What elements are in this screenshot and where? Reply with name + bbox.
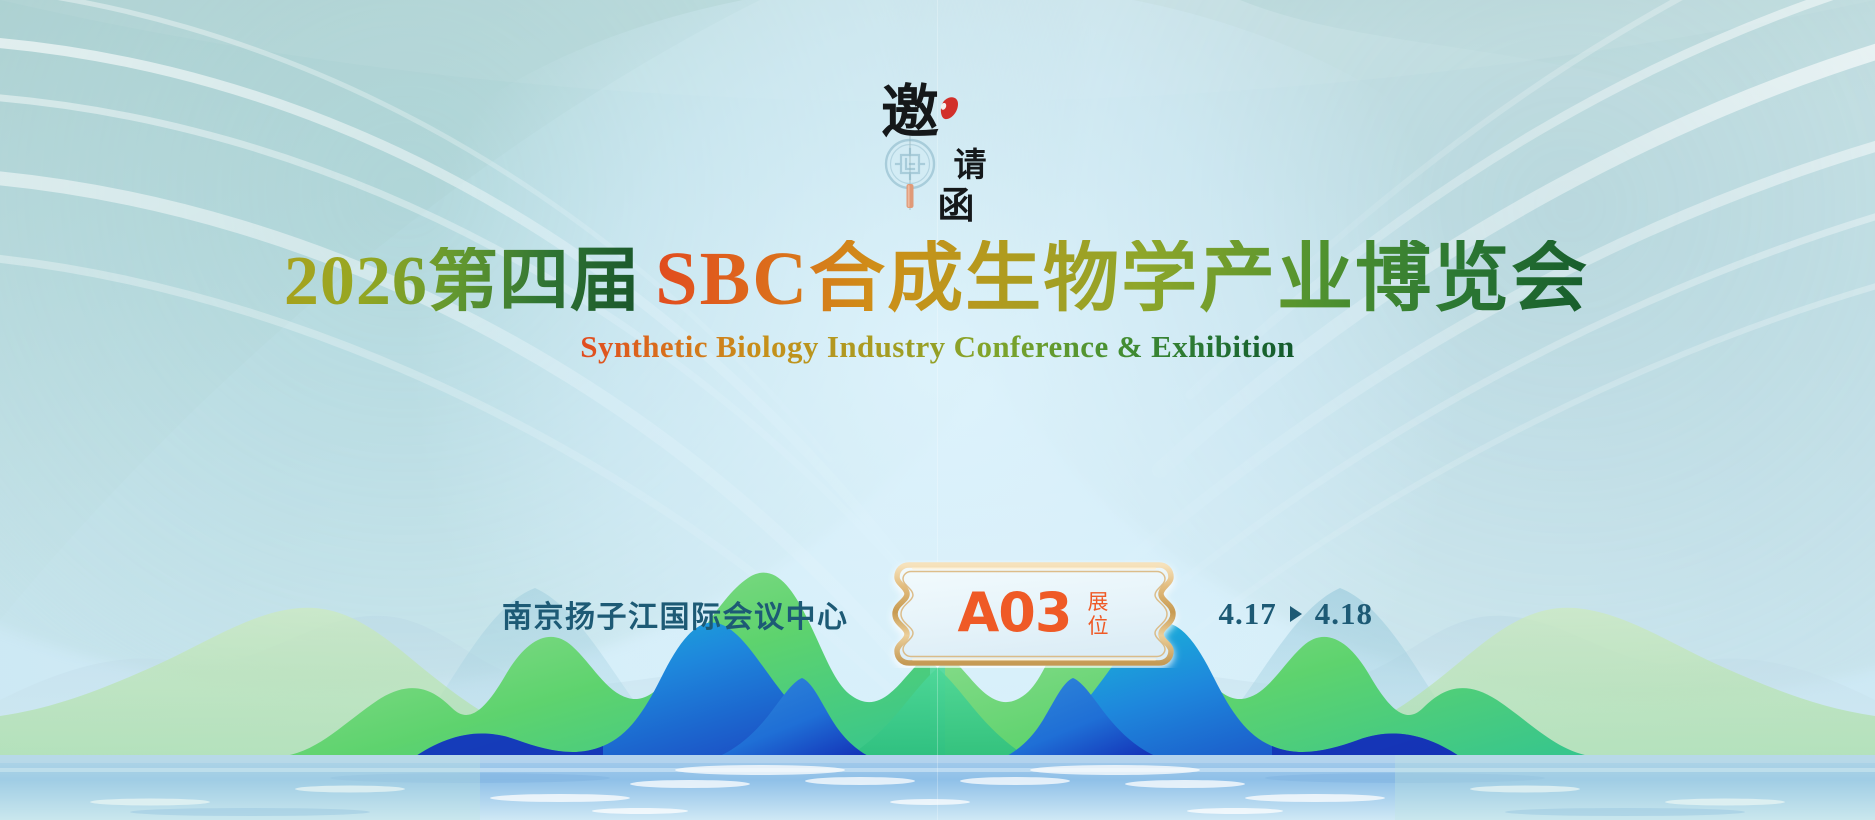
info-row: 南京扬子江国际会议中心	[0, 560, 1875, 668]
event-dates: 4.17 4.18	[1219, 596, 1374, 632]
date-start: 4.17	[1219, 596, 1277, 632]
poster-canvas: 邀 请 函 2026第四届 SBC合成生物学产业博览会 Synthetic Bi…	[0, 0, 1875, 820]
title-main: SBC合成生物学产业博览会	[649, 240, 1595, 328]
venue-label: 南京扬子江国际会议中心	[502, 592, 849, 636]
seal-char-qing: 请	[953, 147, 986, 184]
booth-plaque: A03 展 位	[883, 560, 1185, 668]
title-block: 2026第四届 SBC合成生物学产业博览会 Synthetic Biology …	[0, 242, 1875, 368]
play-triangle-icon	[1290, 606, 1302, 622]
invitation-seal-icon: 邀 请 函	[863, 78, 1013, 223]
seal-char-yao: 邀	[880, 80, 938, 145]
date-end: 4.18	[1315, 596, 1373, 632]
title-year-edition: 2026第四届	[280, 247, 645, 323]
seal-char-han: 函	[937, 186, 974, 223]
title-subtitle-english: Synthetic Biology Industry Conference & …	[576, 330, 1298, 368]
